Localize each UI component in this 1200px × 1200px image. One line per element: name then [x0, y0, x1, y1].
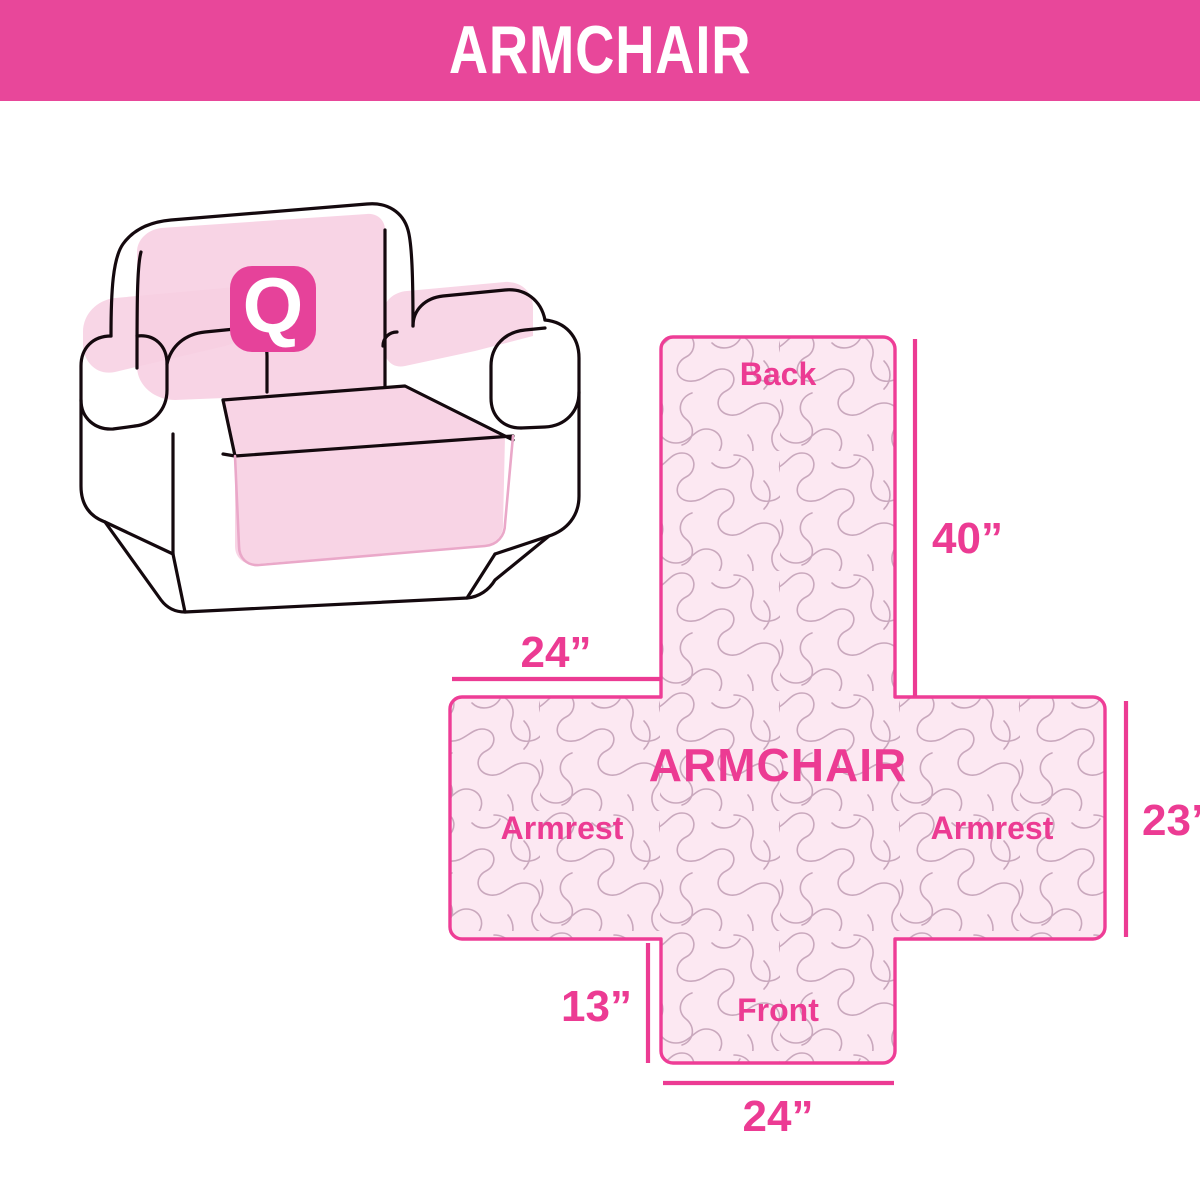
slipcover-shape-real: [450, 337, 1105, 1063]
slipcover-diagram: Back Armrest Armrest Front ARMCHAIR: [420, 331, 1200, 1171]
panel-label-armrest-right: Armrest: [931, 810, 1054, 846]
panel-label-back: Back: [740, 356, 817, 392]
dimension-label-seat-depth: 23”: [1142, 796, 1200, 845]
dimension-label-front-width: 24”: [743, 1092, 814, 1141]
panel-label-front: Front: [737, 992, 819, 1028]
q-logo-letter: Q: [243, 261, 304, 349]
dimension-label-front-height: 13”: [561, 982, 632, 1031]
q-logo-badge: Q: [230, 261, 316, 352]
content-canvas: Q: [0, 101, 1200, 1200]
dimension-label-back-height: 40”: [932, 514, 1003, 563]
page-root: ARMCHAIR: [0, 0, 1200, 1200]
header-banner: ARMCHAIR: [0, 0, 1200, 101]
diagram-center-label: ARMCHAIR: [649, 739, 907, 791]
page-title: ARMCHAIR: [449, 16, 752, 84]
dimension-label-back-width: 24”: [521, 628, 592, 677]
panel-label-armrest-left: Armrest: [501, 810, 624, 846]
